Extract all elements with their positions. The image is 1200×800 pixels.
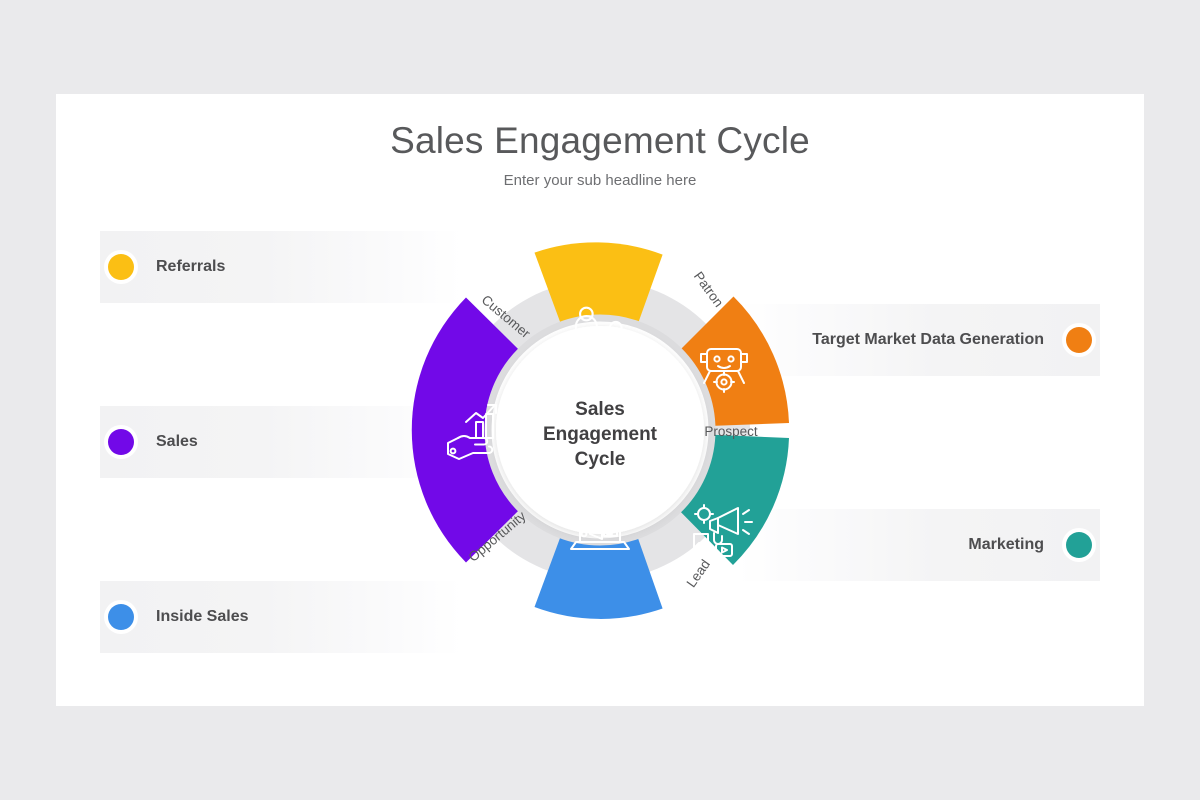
legend-label-inside-sales: Inside Sales — [156, 608, 249, 626]
legend-dot-inside-sales — [108, 604, 134, 630]
legend-dot-marketing — [1066, 532, 1092, 558]
legend-label-referrals: Referrals — [156, 258, 225, 276]
hub-line-2: Engagement — [543, 424, 658, 445]
hub-line-3: Cycle — [575, 449, 626, 470]
legend-label-marketing: Marketing — [968, 536, 1044, 554]
legend-label-sales: Sales — [156, 433, 198, 451]
wheel-stage-label-patron: Patron — [691, 269, 727, 310]
slide-canvas: Sales Engagement Cycle Enter your sub he… — [0, 0, 1200, 800]
wheel-stage-label-lead: Lead — [684, 557, 714, 590]
legend-label-target-market: Target Market Data Generation — [812, 331, 1044, 349]
cycle-wheel: Sales Engagement Cycle Patron Prospect L… — [400, 210, 800, 650]
slide-card: Sales Engagement Cycle Enter your sub he… — [56, 94, 1144, 706]
legend-dot-sales — [108, 429, 134, 455]
page-title: Sales Engagement Cycle — [56, 120, 1144, 162]
legend-dot-target-market — [1066, 327, 1092, 353]
wheel-stage-label-prospect: Prospect — [704, 424, 758, 439]
legend-dot-referrals — [108, 254, 134, 280]
page-subtitle: Enter your sub headline here — [56, 172, 1144, 189]
hub-line-1: Sales — [575, 399, 625, 420]
